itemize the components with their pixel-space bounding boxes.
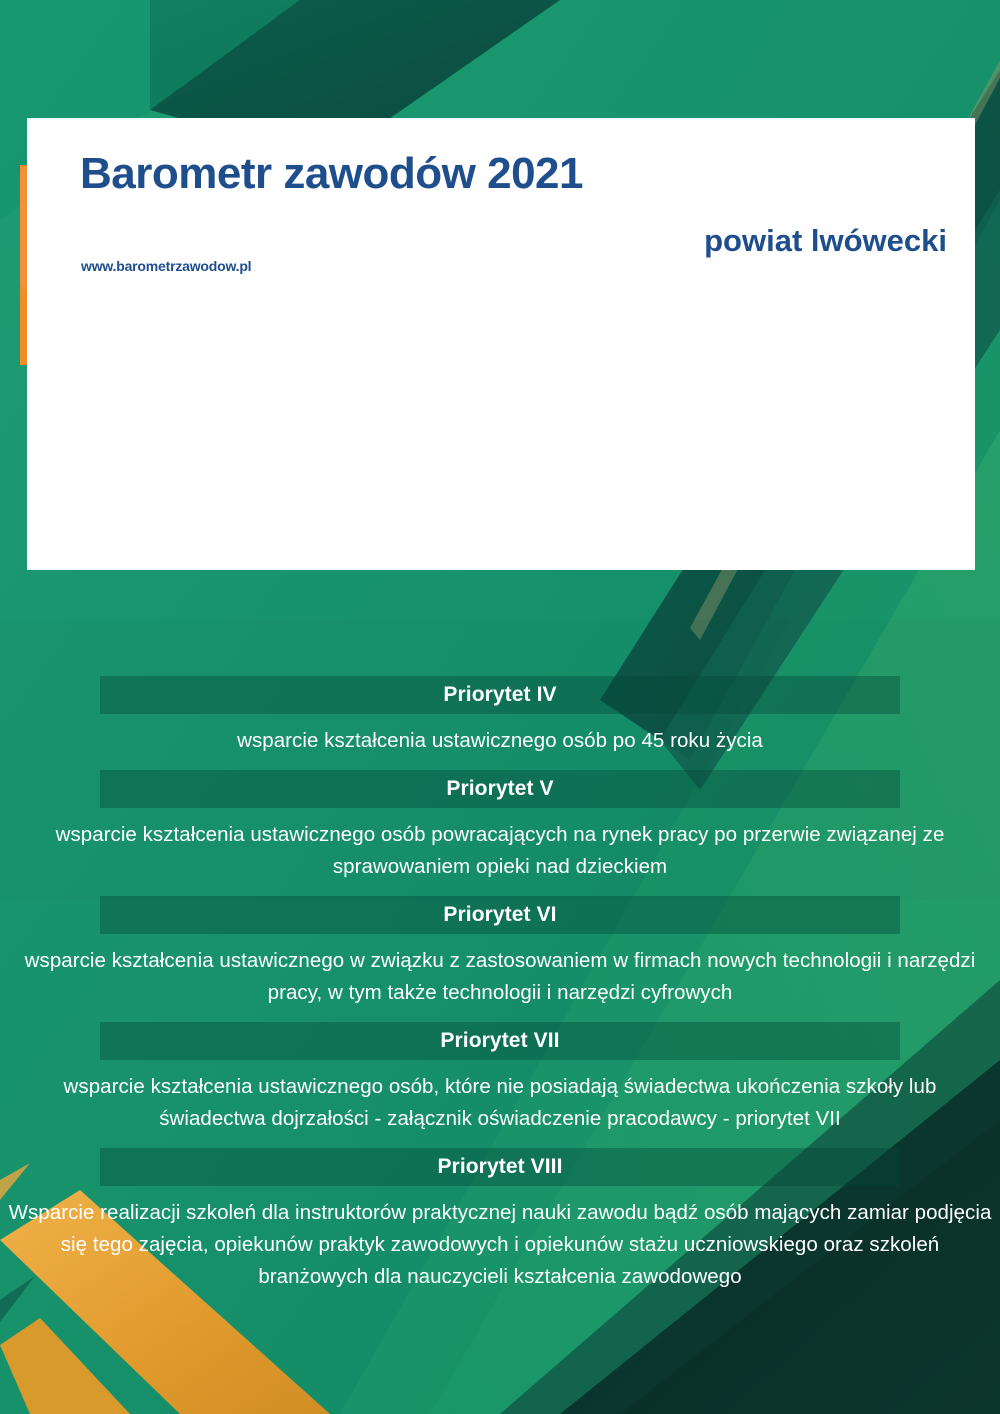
priority-list: Priorytet IV wsparcie kształcenia ustawi… bbox=[0, 676, 1000, 1306]
priority-bar: Priorytet V bbox=[100, 770, 900, 808]
priority-bar: Priorytet VII bbox=[100, 1022, 900, 1060]
priority-bar: Priorytet VIII bbox=[100, 1148, 900, 1186]
header-card: Barometr zawodów 2021 powiat lwówecki ww… bbox=[27, 118, 975, 570]
priority-description: wsparcie kształcenia ustawicznego osób p… bbox=[0, 808, 1000, 896]
website-url: www.barometrzawodow.pl bbox=[81, 258, 251, 274]
page-title: Barometr zawodów 2021 bbox=[80, 149, 583, 199]
priority-block-iv: Priorytet IV wsparcie kształcenia ustawi… bbox=[0, 676, 1000, 770]
priority-block-vii: Priorytet VII wsparcie kształcenia ustaw… bbox=[0, 1022, 1000, 1148]
priority-description: wsparcie kształcenia ustawicznego w zwią… bbox=[0, 934, 1000, 1022]
priority-description: wsparcie kształcenia ustawicznego osób, … bbox=[0, 1060, 1000, 1148]
page-subtitle: powiat lwówecki bbox=[704, 223, 947, 259]
priority-label: Priorytet VIII bbox=[437, 1155, 562, 1179]
priority-label: Priorytet V bbox=[446, 777, 553, 801]
priority-bar: Priorytet IV bbox=[100, 676, 900, 714]
priority-label: Priorytet IV bbox=[443, 683, 556, 707]
priority-description: wsparcie kształcenia ustawicznego osób p… bbox=[0, 714, 1000, 770]
priority-bar: Priorytet VI bbox=[100, 896, 900, 934]
priority-label: Priorytet VII bbox=[440, 1029, 559, 1053]
priority-block-vi: Priorytet VI wsparcie kształcenia ustawi… bbox=[0, 896, 1000, 1022]
priority-block-v: Priorytet V wsparcie kształcenia ustawic… bbox=[0, 770, 1000, 896]
priority-block-viii: Priorytet VIII Wsparcie realizacji szkol… bbox=[0, 1148, 1000, 1306]
priority-description: Wsparcie realizacji szkoleń dla instrukt… bbox=[0, 1186, 1000, 1306]
priority-label: Priorytet VI bbox=[443, 903, 556, 927]
